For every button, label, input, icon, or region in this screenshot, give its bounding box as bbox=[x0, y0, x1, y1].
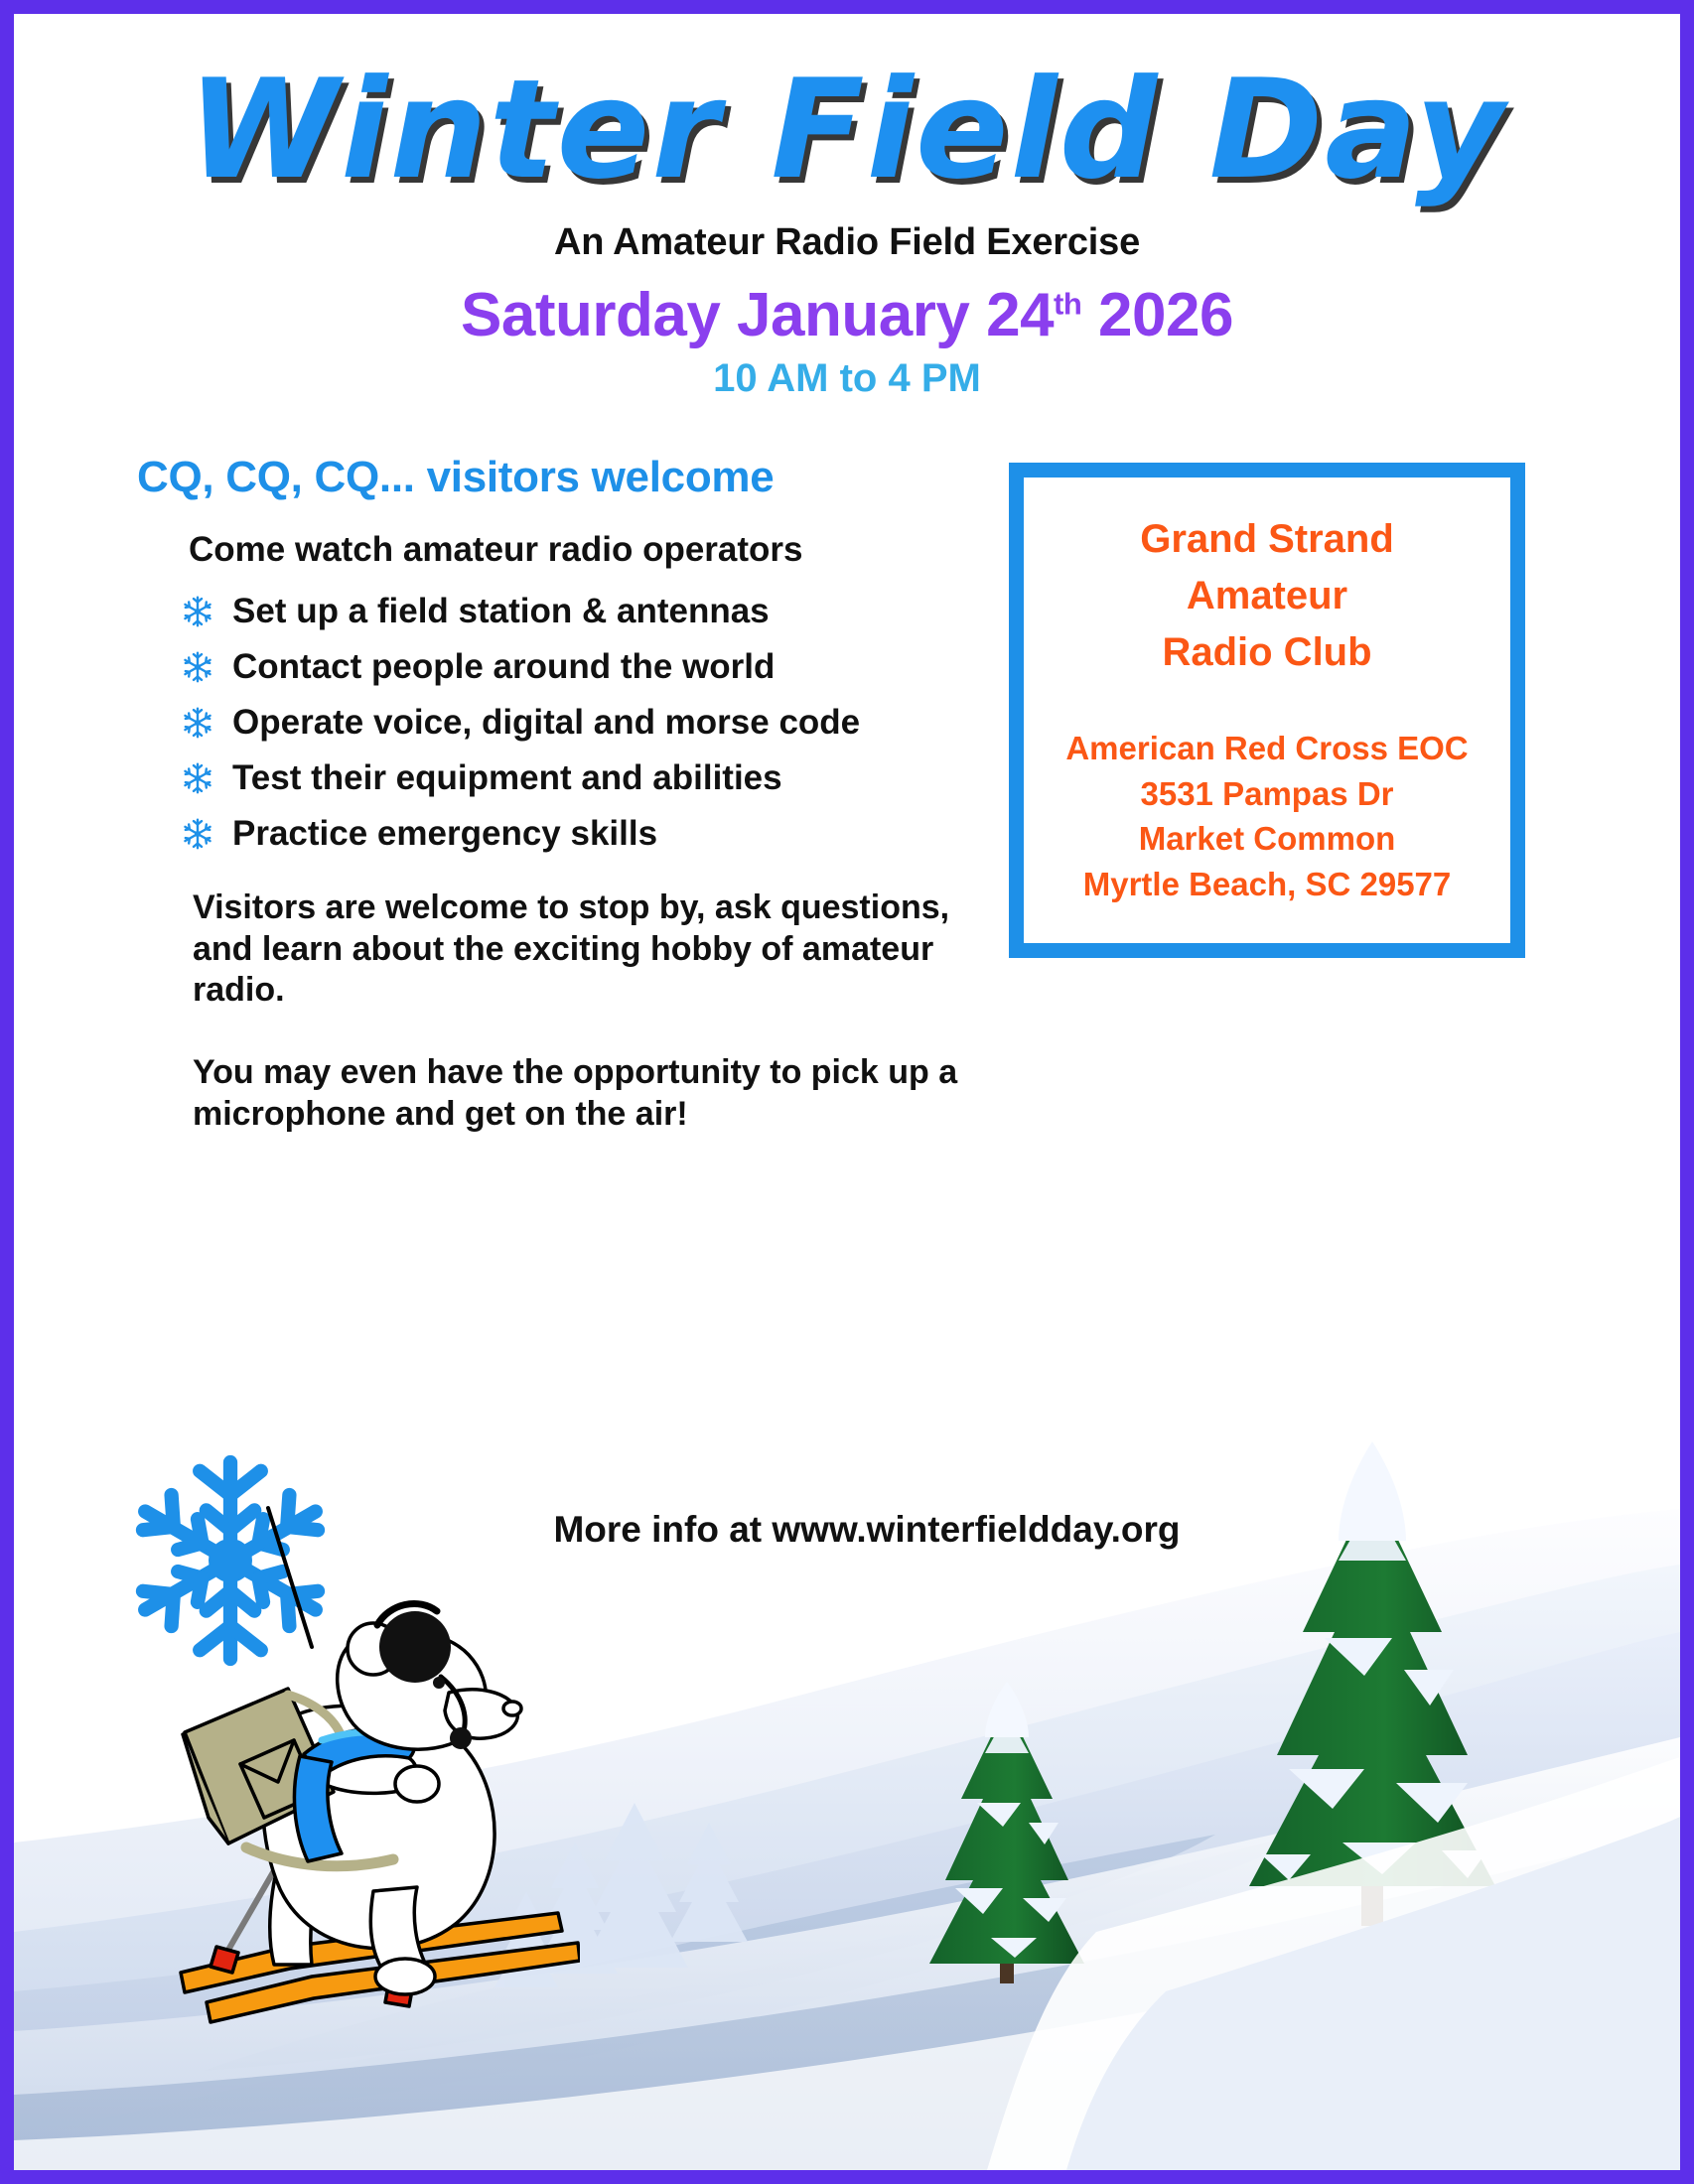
list-item-label: Contact people around the world bbox=[232, 647, 775, 687]
poster-body: CQ, CQ, CQ... visitors welcome Come watc… bbox=[14, 453, 1680, 1135]
list-item-label: Practice emergency skills bbox=[232, 814, 657, 854]
activity-list: Set up a field station & antennas Contac… bbox=[123, 592, 997, 854]
list-item-label: Set up a field station & antennas bbox=[232, 592, 770, 631]
address-line: American Red Cross EOC bbox=[1046, 726, 1488, 771]
club-name-line: Amateur bbox=[1046, 568, 1488, 624]
visitors-paragraph: Visitors are welcome to stop by, ask que… bbox=[193, 887, 987, 1011]
list-item: Practice emergency skills bbox=[181, 814, 997, 854]
event-date: Saturday January 24th 2026 bbox=[14, 280, 1680, 350]
poster-page: Winter Field Day An Amateur Radio Field … bbox=[0, 0, 1694, 2184]
event-time: 10 AM to 4 PM bbox=[14, 356, 1680, 401]
list-item: Test their equipment and abilities bbox=[181, 758, 997, 798]
snowflake-icon bbox=[181, 706, 214, 740]
address-line: Market Common bbox=[1046, 816, 1488, 862]
list-item-label: Operate voice, digital and morse code bbox=[232, 703, 860, 743]
club-info-column: Grand Strand Amateur Radio Club American… bbox=[997, 453, 1654, 958]
club-name-line: Radio Club bbox=[1046, 624, 1488, 681]
cq-heading: CQ, CQ, CQ... visitors welcome bbox=[137, 453, 997, 502]
poster-header: Winter Field Day An Amateur Radio Field … bbox=[14, 14, 1680, 401]
poster-subtitle: An Amateur Radio Field Exercise bbox=[14, 221, 1680, 264]
event-date-main: Saturday January 24 bbox=[461, 281, 1054, 349]
snowflake-icon bbox=[181, 761, 214, 795]
snowflake-icon bbox=[181, 817, 214, 851]
snowflake-icon bbox=[181, 595, 214, 628]
address-line: Myrtle Beach, SC 29577 bbox=[1046, 862, 1488, 907]
list-item: Operate voice, digital and morse code bbox=[181, 703, 997, 743]
club-info-box: Grand Strand Amateur Radio Club American… bbox=[1009, 463, 1525, 958]
list-item-label: Test their equipment and abilities bbox=[232, 758, 782, 798]
list-item: Contact people around the world bbox=[181, 647, 997, 687]
page-title: Winter Field Day bbox=[14, 56, 1680, 204]
details-column: CQ, CQ, CQ... visitors welcome Come watc… bbox=[123, 453, 997, 1135]
list-item: Set up a field station & antennas bbox=[181, 592, 997, 631]
club-address: American Red Cross EOC 3531 Pampas Dr Ma… bbox=[1046, 726, 1488, 906]
polar-bear-skier-illustration bbox=[163, 1498, 580, 2054]
address-line: 3531 Pampas Dr bbox=[1046, 771, 1488, 817]
snowflake-icon bbox=[181, 650, 214, 684]
event-date-year: 2026 bbox=[1081, 281, 1233, 349]
microphone-paragraph: You may even have the opportunity to pic… bbox=[193, 1052, 987, 1135]
intro-text: Come watch amateur radio operators bbox=[189, 530, 997, 570]
event-date-ordinal: th bbox=[1054, 286, 1081, 321]
club-name-line: Grand Strand bbox=[1046, 511, 1488, 568]
